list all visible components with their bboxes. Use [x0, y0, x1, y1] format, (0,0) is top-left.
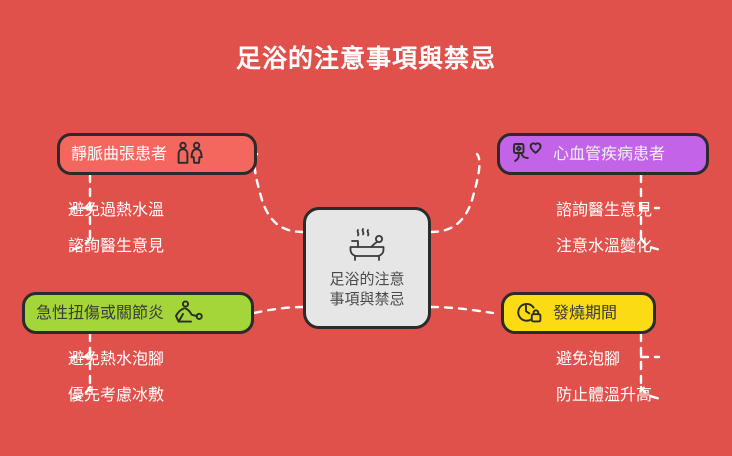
- sub-item-cardio-0: 諮詢醫生意見: [556, 202, 652, 218]
- link-center-cardio: [431, 154, 479, 232]
- injury-person-icon: [172, 300, 204, 326]
- link-center-fever: [431, 307, 493, 313]
- page-title: 足浴的注意事項與禁忌: [0, 44, 732, 74]
- branch-node-cardio[interactable]: 心血管疾病患者: [497, 133, 709, 175]
- sub-item-varicose-1: 諮詢醫生意見: [68, 238, 164, 254]
- branch-node-sprain[interactable]: 急性扭傷或關節炎: [22, 292, 254, 334]
- center-node-label: 足浴的注意 事項與禁忌: [329, 269, 404, 310]
- branch-node-fever-label: 發燒期間: [553, 305, 617, 321]
- heart-health-icon: [511, 141, 545, 167]
- branch-node-sprain-label: 急性扭傷或關節炎: [36, 305, 164, 321]
- bathtub-icon: [344, 227, 390, 267]
- sub-item-varicose-0: 避免過熱水溫: [68, 202, 164, 218]
- sub-item-sprain-0: 避免熱水泡腳: [68, 351, 164, 367]
- sub-item-fever-1: 防止體溫升高: [556, 387, 652, 403]
- branch-node-cardio-label: 心血管疾病患者: [553, 146, 665, 162]
- branch-node-fever[interactable]: 發燒期間: [501, 292, 656, 334]
- center-label-line1: 足浴的注意: [329, 269, 404, 289]
- center-node[interactable]: 足浴的注意 事項與禁忌: [303, 207, 431, 329]
- branch-node-varicose[interactable]: 靜脈曲張患者: [57, 133, 257, 175]
- sub-item-cardio-1: 注意水溫變化: [556, 238, 652, 254]
- branch-node-varicose-label: 靜脈曲張患者: [71, 146, 167, 162]
- link-center-sprain: [254, 307, 303, 313]
- mindmap-canvas: 足浴的注意事項與禁忌: [0, 0, 732, 456]
- clock-lock-icon: [515, 300, 545, 326]
- center-label-line2: 事項與禁忌: [329, 289, 404, 309]
- two-people-icon: [175, 141, 205, 167]
- sub-item-fever-0: 避免泡腳: [556, 351, 620, 367]
- sub-item-sprain-1: 優先考慮冰敷: [68, 387, 164, 403]
- link-center-varicose: [255, 154, 303, 232]
